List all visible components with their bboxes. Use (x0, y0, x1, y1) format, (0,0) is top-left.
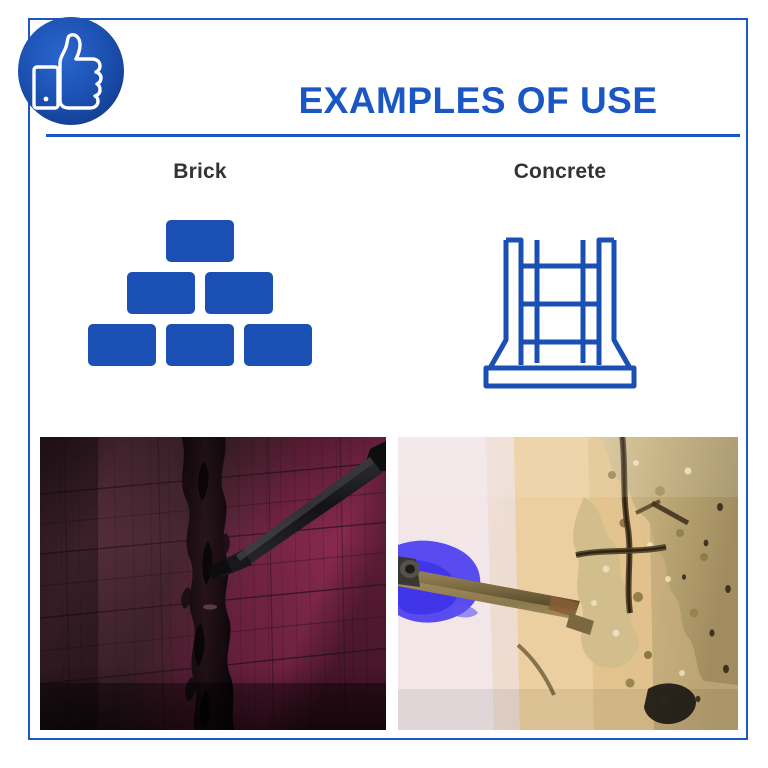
brick-row (88, 324, 312, 366)
concrete-foundation-rebar-icon (400, 220, 720, 395)
thumbs-up-icon (16, 15, 126, 125)
material-column-concrete: Concrete (400, 160, 720, 410)
material-label-concrete: Concrete (400, 160, 720, 190)
brick-row (88, 220, 312, 262)
concrete-spalling-repair-photo (398, 437, 738, 730)
brick (205, 272, 273, 314)
brick (88, 324, 156, 366)
brick (166, 324, 234, 366)
brick (127, 272, 195, 314)
material-label-brick: Brick (40, 160, 360, 190)
brick-wall-crack-repair-photo (40, 437, 386, 730)
material-column-brick: Brick (40, 160, 360, 410)
photo-strip (40, 437, 738, 730)
brick-row (88, 272, 312, 314)
brick (166, 220, 234, 262)
brick-wall-icon (40, 220, 360, 395)
header-band: EXAMPLES OF USE (28, 18, 748, 136)
page-title: EXAMPLES OF USE (258, 80, 698, 122)
brick (244, 324, 312, 366)
title-divider-rule (46, 134, 740, 137)
